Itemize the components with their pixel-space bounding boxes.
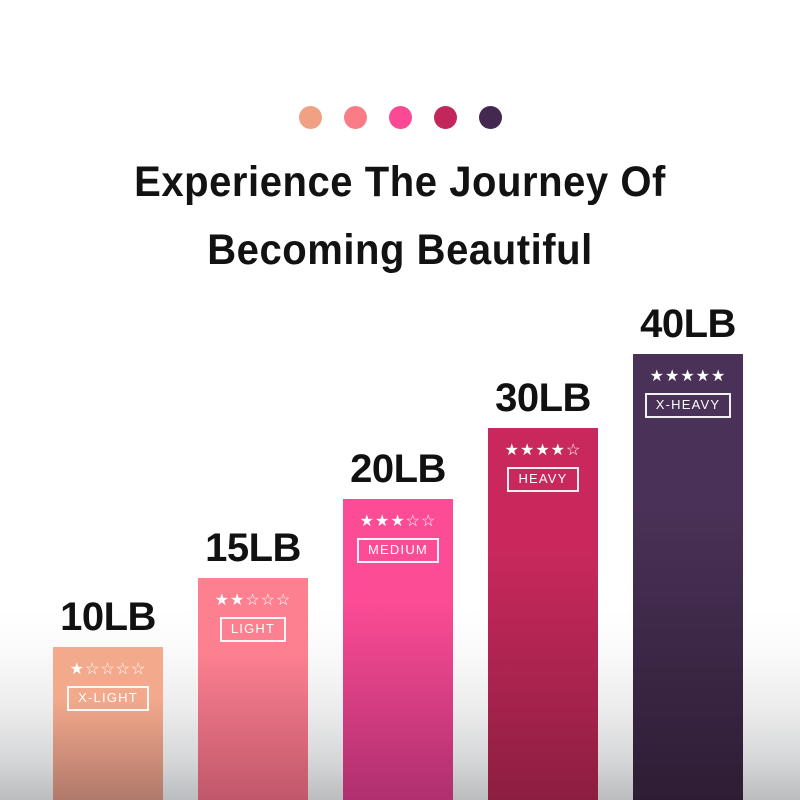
bar-weight-label: 10LB (60, 595, 156, 639)
page-title-line-2: Becoming Beautiful (28, 216, 772, 284)
dot-heavy (434, 106, 457, 129)
bar-weight-label: 30LB (495, 376, 591, 420)
bar-x-light[interactable]: 10LB★☆☆☆☆X-LIGHT (53, 647, 163, 800)
bar-body: ★★★★★X-HEAVY (633, 354, 743, 800)
star-rating-icon: ★★★★★ (650, 368, 727, 386)
bar-medium[interactable]: 20LB★★★☆☆MEDIUM (343, 499, 453, 800)
star-rating-icon: ★★★★☆ (505, 442, 582, 460)
page-title-line-1: Experience The Journey Of (28, 148, 772, 216)
dot-x-light (299, 106, 322, 129)
tier-badge: X-HEAVY (645, 393, 732, 418)
bar-x-heavy[interactable]: 40LB★★★★★X-HEAVY (633, 354, 743, 800)
star-rating-icon: ★☆☆☆☆ (70, 661, 147, 679)
star-rating-icon: ★★☆☆☆ (215, 592, 292, 610)
tier-badge: MEDIUM (357, 538, 439, 563)
bar-body: ★★★★☆HEAVY (488, 428, 598, 800)
dot-light (344, 106, 367, 129)
bar-body: ★☆☆☆☆X-LIGHT (53, 647, 163, 800)
bar-weight-label: 20LB (350, 447, 446, 491)
bar-light[interactable]: 15LB★★☆☆☆LIGHT (198, 578, 308, 800)
bar-body: ★★★☆☆MEDIUM (343, 499, 453, 800)
bar-weight-label: 40LB (640, 302, 736, 346)
bar-body: ★★☆☆☆LIGHT (198, 578, 308, 800)
bar-inner-content: ★★☆☆☆LIGHT (198, 592, 308, 642)
poster-canvas: 10LB★☆☆☆☆X-LIGHT15LB★★☆☆☆LIGHT20LB★★★☆☆M… (0, 0, 800, 800)
bar-inner-content: ★★★☆☆MEDIUM (343, 513, 453, 563)
tier-badge: HEAVY (507, 467, 578, 492)
dot-medium (389, 106, 412, 129)
palette-dot-row (0, 106, 800, 129)
bar-inner-content: ★☆☆☆☆X-LIGHT (53, 661, 163, 711)
bar-weight-label: 15LB (205, 526, 301, 570)
page-title: Experience The Journey Of Becoming Beaut… (0, 148, 800, 284)
tier-badge: X-LIGHT (67, 686, 149, 711)
star-rating-icon: ★★★☆☆ (360, 513, 437, 531)
bar-inner-content: ★★★★★X-HEAVY (633, 368, 743, 418)
bar-heavy[interactable]: 30LB★★★★☆HEAVY (488, 428, 598, 800)
dot-x-heavy (479, 106, 502, 129)
bar-inner-content: ★★★★☆HEAVY (488, 442, 598, 492)
tier-badge: LIGHT (220, 617, 286, 642)
